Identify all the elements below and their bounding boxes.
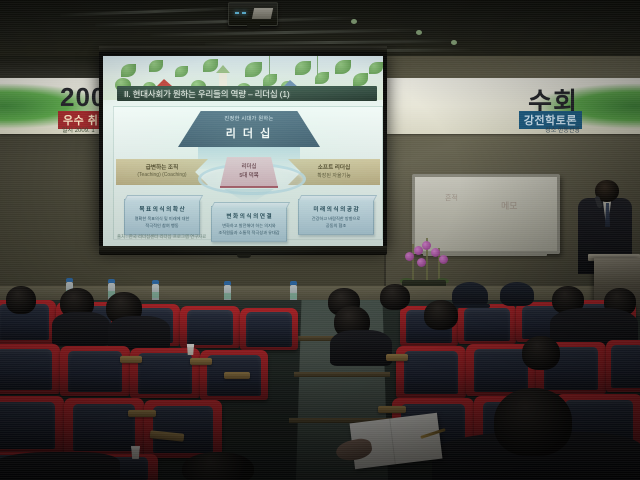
orchid-flower	[431, 248, 440, 257]
projector-lens-icon	[247, 23, 260, 30]
projection-screen-frame: II. 현대사회가 원하는 우리들의 역량 – 리더십 (1) 진정한 시대가 …	[99, 52, 387, 252]
seat-armrest	[378, 406, 406, 413]
auditorium-seat	[0, 344, 60, 394]
core-underline	[220, 186, 278, 188]
slide-title-bar: II. 현대사회가 원하는 우리들의 역량 – 리더십 (1)	[117, 86, 377, 101]
tower-cap-icon	[216, 65, 230, 73]
diagram-box-line-2: 공동의 협조	[299, 223, 373, 229]
auditorium-seat	[458, 304, 516, 344]
auditorium-seat	[144, 400, 222, 458]
gold-banner-left: 급변하는 조직 (Teaching) (Coaching)	[116, 159, 208, 185]
projector-led-icon	[242, 12, 246, 14]
audience-head	[424, 300, 458, 330]
audience-torso	[52, 312, 110, 346]
diagram-box-line-1: 건강하고 바람직한 방향으로	[299, 216, 373, 222]
seat-cushion	[0, 402, 55, 450]
leadership-title: 리 더 십	[178, 125, 320, 141]
lecture-hall-photo: 200 수회 우수 취업 강전학토론 일시 2009. 1 장소 한동관광 흔적…	[0, 0, 640, 480]
bottle-label	[290, 293, 297, 299]
seat-cushion	[404, 351, 459, 394]
seat-armrest	[120, 356, 142, 363]
seat-cushion	[464, 308, 509, 341]
gold-left-sub: (Teaching) (Coaching)	[116, 172, 208, 178]
house-roof-icon	[157, 79, 172, 86]
leaf-graphic	[245, 62, 262, 77]
bottle-cap	[152, 280, 159, 284]
fluorescent-tube	[60, 6, 250, 16]
aisle-step	[294, 372, 390, 377]
audience-torso	[330, 330, 392, 366]
leaf-graphic	[263, 74, 277, 86]
projector-led-icon	[235, 12, 239, 14]
tube-end-cap	[351, 19, 357, 24]
core-shape: 리더십 5대 덕목	[220, 157, 278, 187]
slide-diagram: 진정한 시대가 원하는 리 더 십 급변하는 조직 (Teaching) (Co…	[113, 106, 383, 240]
diagram-box-line-1: 변화하고 발전해야 하는 의지와	[212, 223, 286, 229]
seat-cushion	[246, 312, 291, 346]
fluorescent-tube	[205, 39, 455, 45]
banner-detail-right: 장소 한동관광	[545, 125, 580, 134]
audience-head	[380, 284, 410, 310]
bottle-cap	[224, 281, 231, 285]
projector-body-highlight	[252, 8, 273, 19]
bottle-label	[152, 292, 159, 298]
audience-head	[522, 336, 560, 370]
diagram-box-line-1: 명확한 목표의식 및 미래에 대한	[125, 216, 199, 222]
leaf-graphic	[315, 72, 329, 84]
cap-brim-icon	[452, 304, 490, 308]
seat-cushion	[153, 406, 214, 454]
diagram-box-heading: 목 표 의 식 의 확 산	[125, 205, 199, 213]
leadership-header-shape: 진정한 시대가 원하는 리 더 십	[178, 111, 320, 147]
diagram-box: 목 표 의 식 의 확 산 명확한 목표의식 및 미래에 대한 적극적인 참여 …	[124, 199, 200, 235]
tube-end-cap	[416, 30, 422, 35]
seat-cushion	[0, 349, 52, 390]
foreground-audience-head	[182, 452, 254, 480]
bottle-label	[224, 293, 231, 299]
banner-detail-left: 일시 2009. 1	[62, 125, 95, 134]
orchid-flower	[439, 255, 448, 264]
leaf-graphic	[295, 61, 311, 75]
diagram-box-line-2: 적극적인 참여 행동	[125, 223, 199, 229]
leaf-graphic	[175, 66, 188, 77]
orchid-flower	[417, 258, 426, 267]
auditorium-seat	[240, 308, 298, 350]
down-arrow-icon	[224, 189, 274, 201]
core-line-1: 리더십	[220, 162, 278, 170]
seat-cushion	[611, 345, 640, 388]
seat-armrest	[224, 372, 250, 379]
ceiling-projector-icon	[228, 2, 278, 26]
diagram-box-line-2: 조직원들과 소통적 적극성과 유대감	[212, 230, 286, 236]
audience-head	[6, 286, 36, 314]
slide-footer-text: 출처 : 한국 리더십센터 리더십 프로그램 연구자료	[117, 234, 206, 240]
auditorium-seat	[180, 306, 240, 348]
seat-cushion	[68, 351, 123, 392]
leaf-graphic	[335, 60, 351, 74]
tube-end-cap	[451, 40, 457, 45]
booklet-fold	[390, 418, 397, 464]
auditorium-seat	[606, 340, 640, 392]
orchid-flower	[422, 241, 431, 250]
gold-left-heading: 급변하는 조직	[116, 163, 208, 171]
leaf-graphic	[369, 62, 383, 74]
foreground-audience-head	[494, 388, 572, 456]
orchid-flower	[405, 252, 414, 261]
bottle-cap	[108, 279, 115, 283]
diagram-box: 변 화 의 식 의 연 결 변화하고 발전해야 하는 의지와 조직원들과 소통적…	[211, 206, 287, 242]
core-line-2: 5대 덕목	[220, 171, 278, 179]
leaf-graphic	[121, 64, 136, 77]
presentation-slide: II. 현대사회가 원하는 우리들의 역량 – 리더십 (1) 진정한 시대가 …	[103, 56, 383, 248]
leaf-graphic	[353, 73, 368, 86]
seat-cushion	[187, 310, 234, 344]
seat-cushion	[73, 404, 135, 452]
audience-cap	[500, 282, 534, 306]
audience-torso	[108, 316, 170, 350]
screen-bottom-bar	[99, 246, 387, 255]
seat-cushion	[474, 349, 529, 392]
auditorium-seat	[0, 396, 64, 454]
bottle-cap	[290, 281, 297, 285]
slide-title-text: II. 현대사회가 원하는 우리들의 역량 – 리더십 (1)	[124, 88, 289, 100]
seat-armrest	[128, 410, 156, 417]
diagram-box: 미 래 의 식 의 공 감 건강하고 바람직한 방향으로 공동의 협조	[298, 199, 374, 235]
gold-right-heading: 소프트 리더십	[288, 163, 380, 171]
fluorescent-tube	[150, 28, 420, 36]
projection-screen: II. 현대사회가 원하는 우리들의 역량 – 리더십 (1) 진정한 시대가 …	[103, 56, 383, 248]
diagram-box-heading: 변 화 의 식 의 연 결	[212, 212, 286, 220]
whiteboard-mark: 메모	[501, 199, 518, 212]
whiteboard-mark: 흔적	[445, 193, 458, 203]
auditorium-seat	[60, 346, 130, 396]
seat-armrest	[386, 354, 408, 361]
bottle-cap	[66, 278, 73, 282]
seat-armrest	[190, 358, 212, 365]
seat-cushion	[138, 353, 193, 394]
fluorescent-tube	[95, 16, 355, 26]
orchid-plant	[392, 236, 458, 292]
diagram-box-heading: 미 래 의 식 의 공 감	[299, 205, 373, 213]
leaf-graphic	[149, 60, 163, 72]
foreground-audience-torso	[0, 452, 120, 480]
leadership-subtitle: 진정한 시대가 원하는	[178, 115, 320, 122]
